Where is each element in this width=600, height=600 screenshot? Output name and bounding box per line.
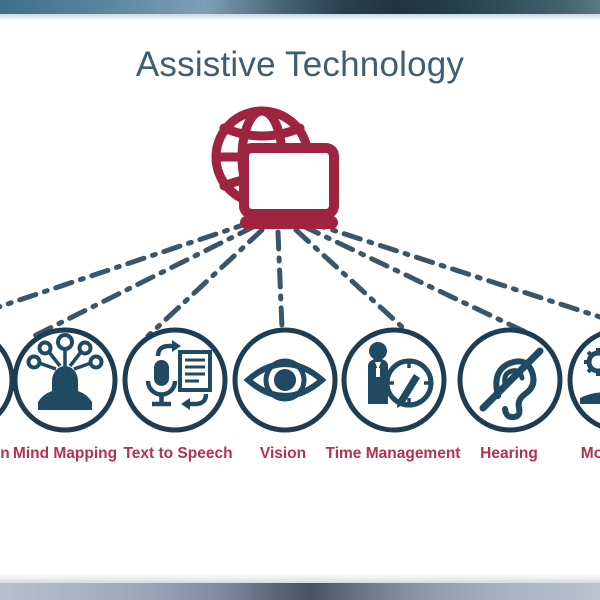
- node-label-vision: Vision: [260, 445, 306, 463]
- connector-line-3: [278, 232, 282, 328]
- connector-line-6: [308, 222, 600, 330]
- node-circle-vision[interactable]: [235, 330, 335, 430]
- connector-line-1: [30, 226, 255, 338]
- node-label-communication: n: [0, 445, 9, 463]
- connector-line-5: [303, 226, 538, 338]
- slide-canvas: Assistive Technology: [0, 0, 600, 600]
- assistive-technology-hub-icon: [216, 111, 338, 229]
- connector-line-4: [296, 230, 412, 336]
- diagram-svg: [0, 0, 600, 600]
- node-circle-communication[interactable]: [0, 330, 12, 430]
- node-label-mobility: Mo: [581, 445, 600, 463]
- connector-lines: [0, 222, 600, 338]
- node-circle-mind-mapping[interactable]: [15, 330, 115, 430]
- node-label-time-management: Time Management: [326, 445, 461, 463]
- node-circle-hearing[interactable]: [460, 330, 560, 430]
- node-circle-text-to-speech[interactable]: [125, 330, 225, 430]
- laptop-icon: [240, 148, 338, 229]
- bottom-gradient-band: [0, 583, 600, 600]
- node-label-text-to-speech: Text to Speech: [123, 445, 232, 463]
- node-label-hearing: Hearing: [480, 445, 538, 463]
- connector-line-2: [148, 230, 262, 336]
- node-circle-mobility[interactable]: [570, 330, 600, 430]
- node-icons-group: [0, 330, 600, 430]
- bottom-gradient-fade: [0, 574, 600, 583]
- node-label-mind-mapping: Mind Mapping: [13, 445, 117, 463]
- node-circle-time-management[interactable]: [344, 330, 444, 430]
